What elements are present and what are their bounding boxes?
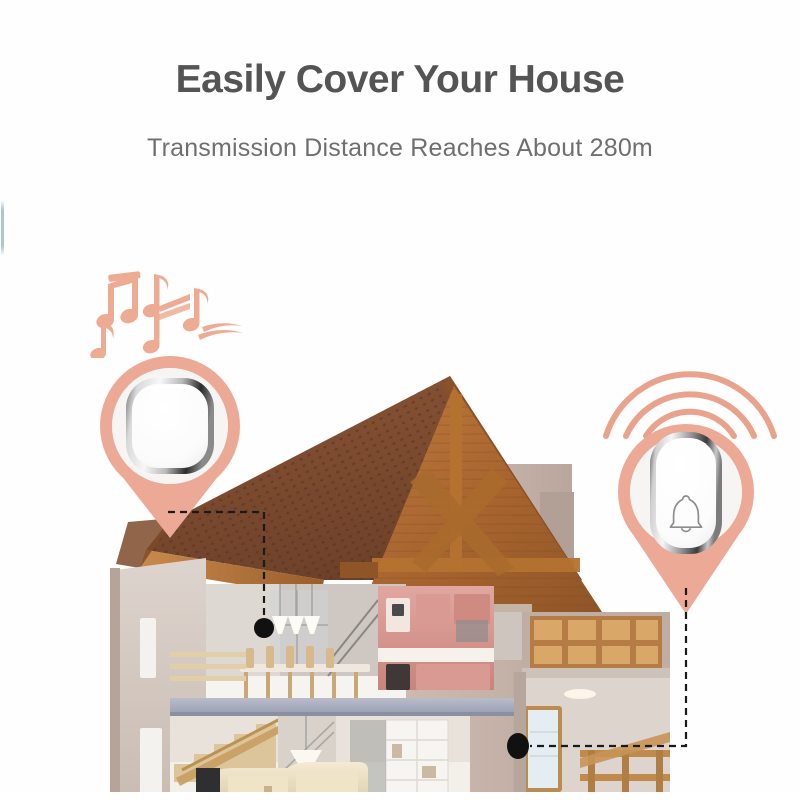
- page-subtitle: Transmission Distance Reaches About 280m: [0, 133, 800, 163]
- promo-banner: Easily Cover Your House Transmission Dis…: [0, 0, 800, 800]
- receiver-pin-svg[interactable]: [96, 352, 244, 542]
- bottom-edge: [0, 792, 800, 800]
- balcony-railing: [530, 616, 662, 668]
- music-notes-decoration: [86, 248, 246, 358]
- scan-edge-artifact: [1, 200, 4, 256]
- music-notes-icon: [86, 248, 246, 358]
- floor-slab: [170, 698, 522, 714]
- page-title: Easily Cover Your House: [0, 58, 800, 103]
- doorbell-pin-svg[interactable]: [606, 418, 766, 618]
